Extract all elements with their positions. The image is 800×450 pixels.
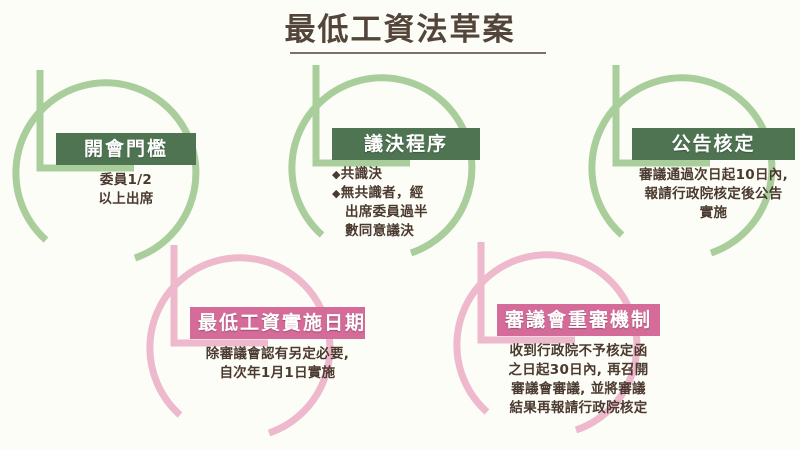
body-line: 委員1/2: [56, 171, 196, 190]
bullet-text: 數同意議決: [332, 222, 480, 241]
step-heading: 最低工資實施日期: [190, 307, 365, 339]
step-body: 委員1/2 以上出席: [56, 171, 196, 209]
body-line: 報請行政院核定後公告: [632, 185, 795, 204]
step-body: 收到行政院不予核定函 之日起30日內, 再召開 審議會審議, 並將審議 結果再報…: [497, 342, 660, 418]
page-title: 最低工資法草案: [0, 10, 800, 50]
step-heading: 開會門檻: [56, 133, 196, 165]
diamond-bullet-icon: ◆: [332, 187, 341, 200]
bullet-item: ◆共識決: [332, 165, 480, 184]
body-line: 以上出席: [56, 190, 196, 209]
step-heading: 議決程序: [332, 128, 480, 160]
title-underline: [290, 52, 546, 54]
bullet-text: 無共識者，經: [341, 185, 424, 201]
body-line: 實施: [632, 204, 795, 223]
body-line: 除審議會認有另定必要,: [190, 345, 365, 364]
bullet-text: 出席委員過半: [332, 203, 480, 222]
step-bullet-list: ◆共識決 ◆無共識者，經 出席委員過半 數同意議決: [332, 165, 480, 241]
body-line: 審議會審議, 並將審議: [497, 380, 660, 399]
body-line: 自次年1月1日實施: [190, 364, 365, 383]
step-heading: 公告核定: [632, 128, 795, 160]
diamond-bullet-icon: ◆: [332, 168, 341, 181]
infographic-canvas: 最低工資法草案 開會門檻 委員1/2 以上出席 議決程序 ◆共識決 ◆無共識者，…: [0, 0, 800, 450]
step-card-public-announcement: 公告核定 審議通過次日起10日內, 報請行政院核定後公告 實施: [632, 128, 795, 223]
step-heading: 審議會重審機制: [497, 304, 660, 336]
step-card-meeting-threshold: 開會門檻 委員1/2 以上出席: [56, 133, 196, 209]
step-card-review-mechanism: 審議會重審機制 收到行政院不予核定函 之日起30日內, 再召開 審議會審議, 並…: [497, 304, 660, 418]
step-card-effective-date: 最低工資實施日期 除審議會認有另定必要, 自次年1月1日實施: [190, 307, 365, 383]
step-card-resolution-procedure: 議決程序 ◆共識決 ◆無共識者，經 出席委員過半 數同意議決: [332, 128, 480, 241]
body-line: 結果再報請行政院核定: [497, 399, 660, 418]
step-body: 除審議會認有另定必要, 自次年1月1日實施: [190, 345, 365, 383]
bullet-text: 共識決: [341, 166, 382, 182]
body-line: 之日起30日內, 再召開: [497, 361, 660, 380]
body-line: 審議通過次日起10日內,: [632, 166, 795, 185]
body-line: 收到行政院不予核定函: [497, 342, 660, 361]
step-body: 審議通過次日起10日內, 報請行政院核定後公告 實施: [632, 166, 795, 223]
bullet-item: ◆無共識者，經: [332, 184, 480, 203]
